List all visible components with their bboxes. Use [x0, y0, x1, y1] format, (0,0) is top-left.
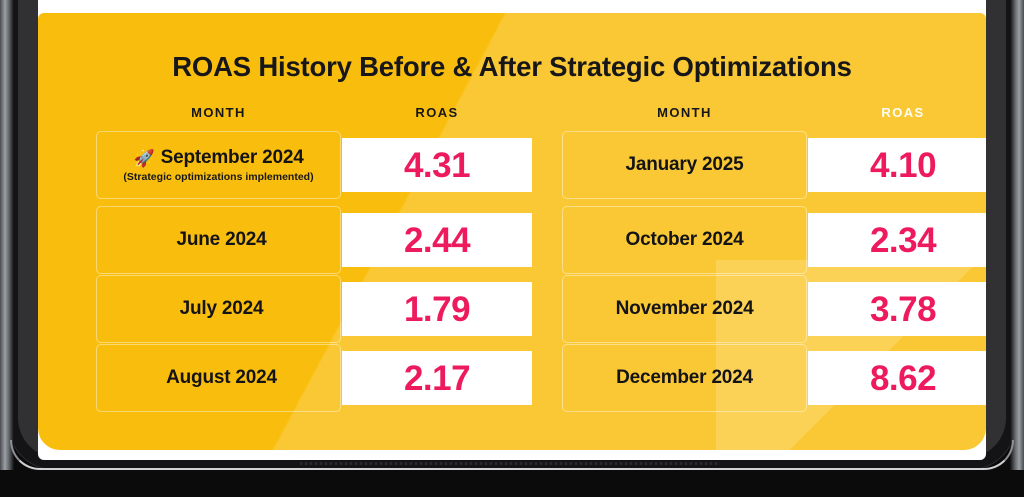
- roas-cell[interactable]: 4.10: [808, 138, 986, 192]
- month-cell[interactable]: July 2024: [96, 275, 341, 343]
- roas-cell[interactable]: 4.31: [342, 138, 532, 192]
- month-line: 🚀 September 2024: [133, 147, 303, 169]
- month-line: December 2024: [616, 367, 753, 389]
- roas-value: 4.10: [870, 148, 936, 183]
- device-speaker-grille: [300, 462, 720, 465]
- roas-value: 3.78: [870, 292, 936, 327]
- month-line: June 2024: [170, 229, 266, 251]
- roas-value: 4.31: [404, 148, 470, 183]
- month-label: June 2024: [176, 229, 266, 251]
- roas-table-right: MONTH ROAS October 2024 2.34 November 20…: [524, 101, 979, 421]
- column-header-roas-left: ROAS: [342, 105, 532, 120]
- month-cell[interactable]: January 2025: [562, 131, 807, 199]
- tablet-device-frame: ROAS History Before & After Strategic Op…: [0, 0, 1024, 497]
- roas-cell[interactable]: 2.34: [808, 213, 986, 267]
- month-note: (Strategic optimizations implemented): [123, 171, 313, 183]
- month-line: August 2024: [160, 367, 277, 389]
- month-label: January 2025: [625, 154, 743, 176]
- table-row: October 2024 2.34: [524, 206, 979, 274]
- table-row: December 2024 8.62: [524, 344, 979, 412]
- month-cell[interactable]: June 2024: [96, 206, 341, 274]
- month-label: October 2024: [626, 229, 744, 251]
- month-line: October 2024: [626, 229, 744, 251]
- month-cell[interactable]: November 2024: [562, 275, 807, 343]
- month-label: September 2024: [161, 147, 304, 169]
- table-row: November 2024 3.78: [524, 275, 979, 343]
- month-cell[interactable]: December 2024: [562, 344, 807, 412]
- column-header-roas-right: ROAS: [808, 105, 986, 120]
- month-cell[interactable]: October 2024: [562, 206, 807, 274]
- roas-cell[interactable]: 2.44: [342, 213, 532, 267]
- column-header-month-left: MONTH: [96, 105, 341, 120]
- page-title: ROAS History Before & After Strategic Op…: [38, 51, 986, 83]
- table-row: August 2024 2.17: [58, 344, 513, 412]
- roas-value: 1.79: [404, 292, 470, 327]
- column-header-row-left: MONTH ROAS: [58, 101, 513, 131]
- table-row: January 2025 4.10: [524, 131, 979, 199]
- device-side-rail-left: [0, 0, 14, 470]
- month-line: July 2024: [174, 298, 264, 320]
- roas-value: 2.34: [870, 223, 936, 258]
- roas-cell[interactable]: 2.17: [342, 351, 532, 405]
- month-line: January 2025: [625, 154, 743, 176]
- table-row-highlighted: 🚀 September 2024 (Strategic optimization…: [58, 131, 513, 199]
- roas-cell[interactable]: 3.78: [808, 282, 986, 336]
- month-label: December 2024: [616, 367, 753, 389]
- roas-value: 2.17: [404, 361, 470, 396]
- roas-value: 2.44: [404, 223, 470, 258]
- month-line: November 2024: [616, 298, 754, 320]
- month-label: July 2024: [180, 298, 264, 320]
- roas-report-card: ROAS History Before & After Strategic Op…: [38, 13, 986, 450]
- roas-cell[interactable]: 8.62: [808, 351, 986, 405]
- device-side-rail-right: [1010, 0, 1024, 470]
- table-row: July 2024 1.79: [58, 275, 513, 343]
- table-row: June 2024 2.44: [58, 206, 513, 274]
- roas-value: 8.62: [870, 361, 936, 396]
- month-label: November 2024: [616, 298, 754, 320]
- month-cell[interactable]: August 2024: [96, 344, 341, 412]
- month-cell[interactable]: 🚀 September 2024 (Strategic optimization…: [96, 131, 341, 199]
- rocket-icon: 🚀: [133, 150, 154, 167]
- column-header-row-right: MONTH ROAS: [524, 101, 979, 131]
- roas-cell[interactable]: 1.79: [342, 282, 532, 336]
- column-header-month-right: MONTH: [562, 105, 807, 120]
- roas-table-left: MONTH ROAS June 2024 2.44: [58, 101, 513, 421]
- month-label: August 2024: [166, 367, 277, 389]
